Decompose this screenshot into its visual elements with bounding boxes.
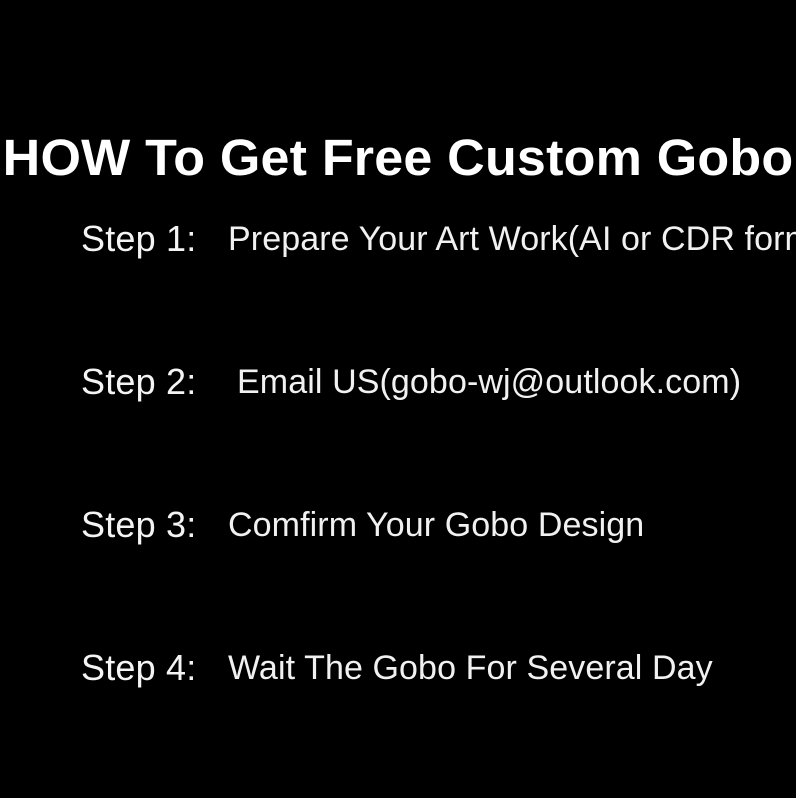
list-item: Step 2: Email US(gobo-wj@outlook.com) xyxy=(0,359,796,502)
step-label: Step 3: xyxy=(81,502,228,548)
step-label: Step 1: xyxy=(81,216,228,262)
list-item: Step 4: Wait The Gobo For Several Day xyxy=(0,645,796,788)
step-description: Wait The Gobo For Several Day xyxy=(228,645,713,691)
poster-canvas: HOW To Get Free Custom Gobo Step 1: Prep… xyxy=(0,0,796,798)
list-item: Step 3: Comfirm Your Gobo Design xyxy=(0,502,796,645)
step-label: Step 4: xyxy=(81,645,228,691)
step-label: Step 2: xyxy=(81,359,228,405)
steps-list: Step 1: Prepare Your Art Work(AI or CDR … xyxy=(0,216,796,788)
page-title: HOW To Get Free Custom Gobo xyxy=(0,130,796,186)
list-item: Step 1: Prepare Your Art Work(AI or CDR … xyxy=(0,216,796,359)
step-description: Email US(gobo-wj@outlook.com) xyxy=(228,359,741,405)
step-description: Comfirm Your Gobo Design xyxy=(228,502,644,548)
step-description: Prepare Your Art Work(AI or CDR format) xyxy=(228,216,796,262)
